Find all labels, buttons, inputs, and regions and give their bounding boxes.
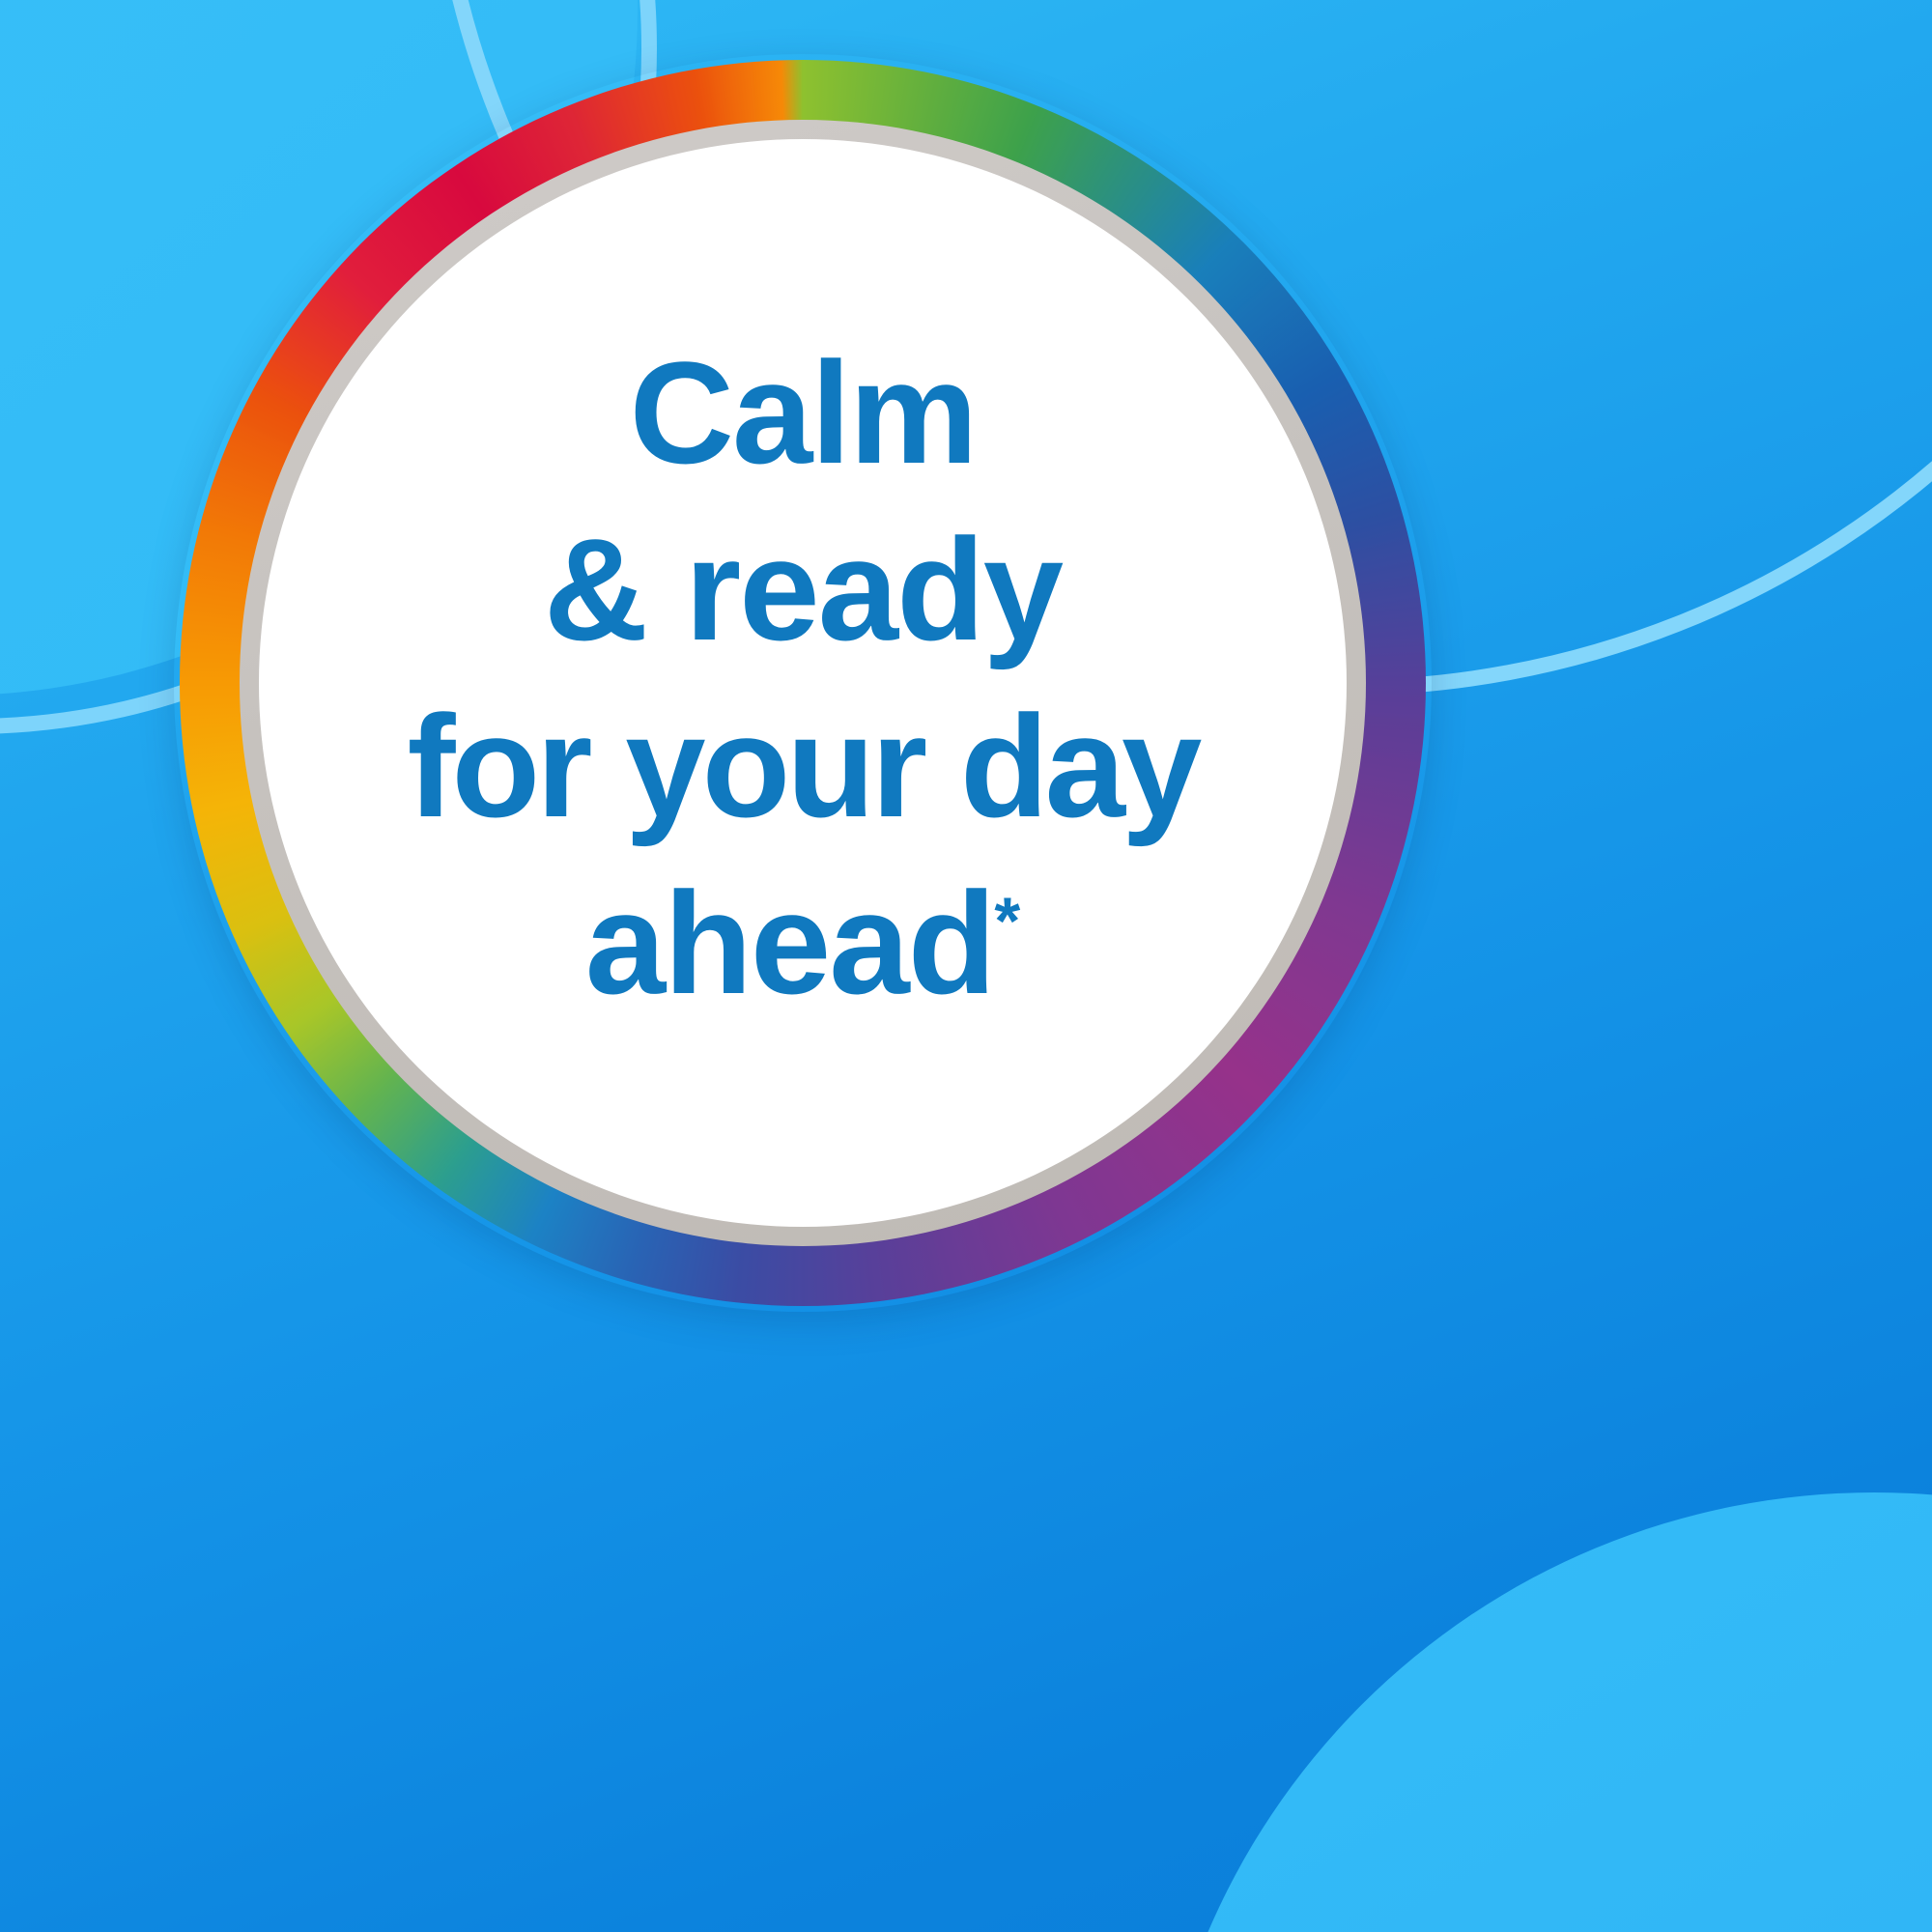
rainbow-ring-badge: Calm & ready for your day ahead* xyxy=(180,60,1426,1306)
headline-line-2: & ready xyxy=(281,501,1324,678)
headline-line-4: ahead* xyxy=(281,855,1324,1032)
headline-line-3: for your day xyxy=(281,678,1324,855)
badge-white-face: Calm & ready for your day ahead* xyxy=(259,139,1347,1227)
footnote-asterisk: * xyxy=(994,884,1020,958)
headline-text: Calm & ready for your day ahead* xyxy=(281,325,1324,1032)
headline-line-4-text: ahead xyxy=(585,862,995,1024)
headline-line-1: Calm xyxy=(281,325,1324,501)
promo-banner: Calm & ready for your day ahead* xyxy=(0,0,1932,1932)
